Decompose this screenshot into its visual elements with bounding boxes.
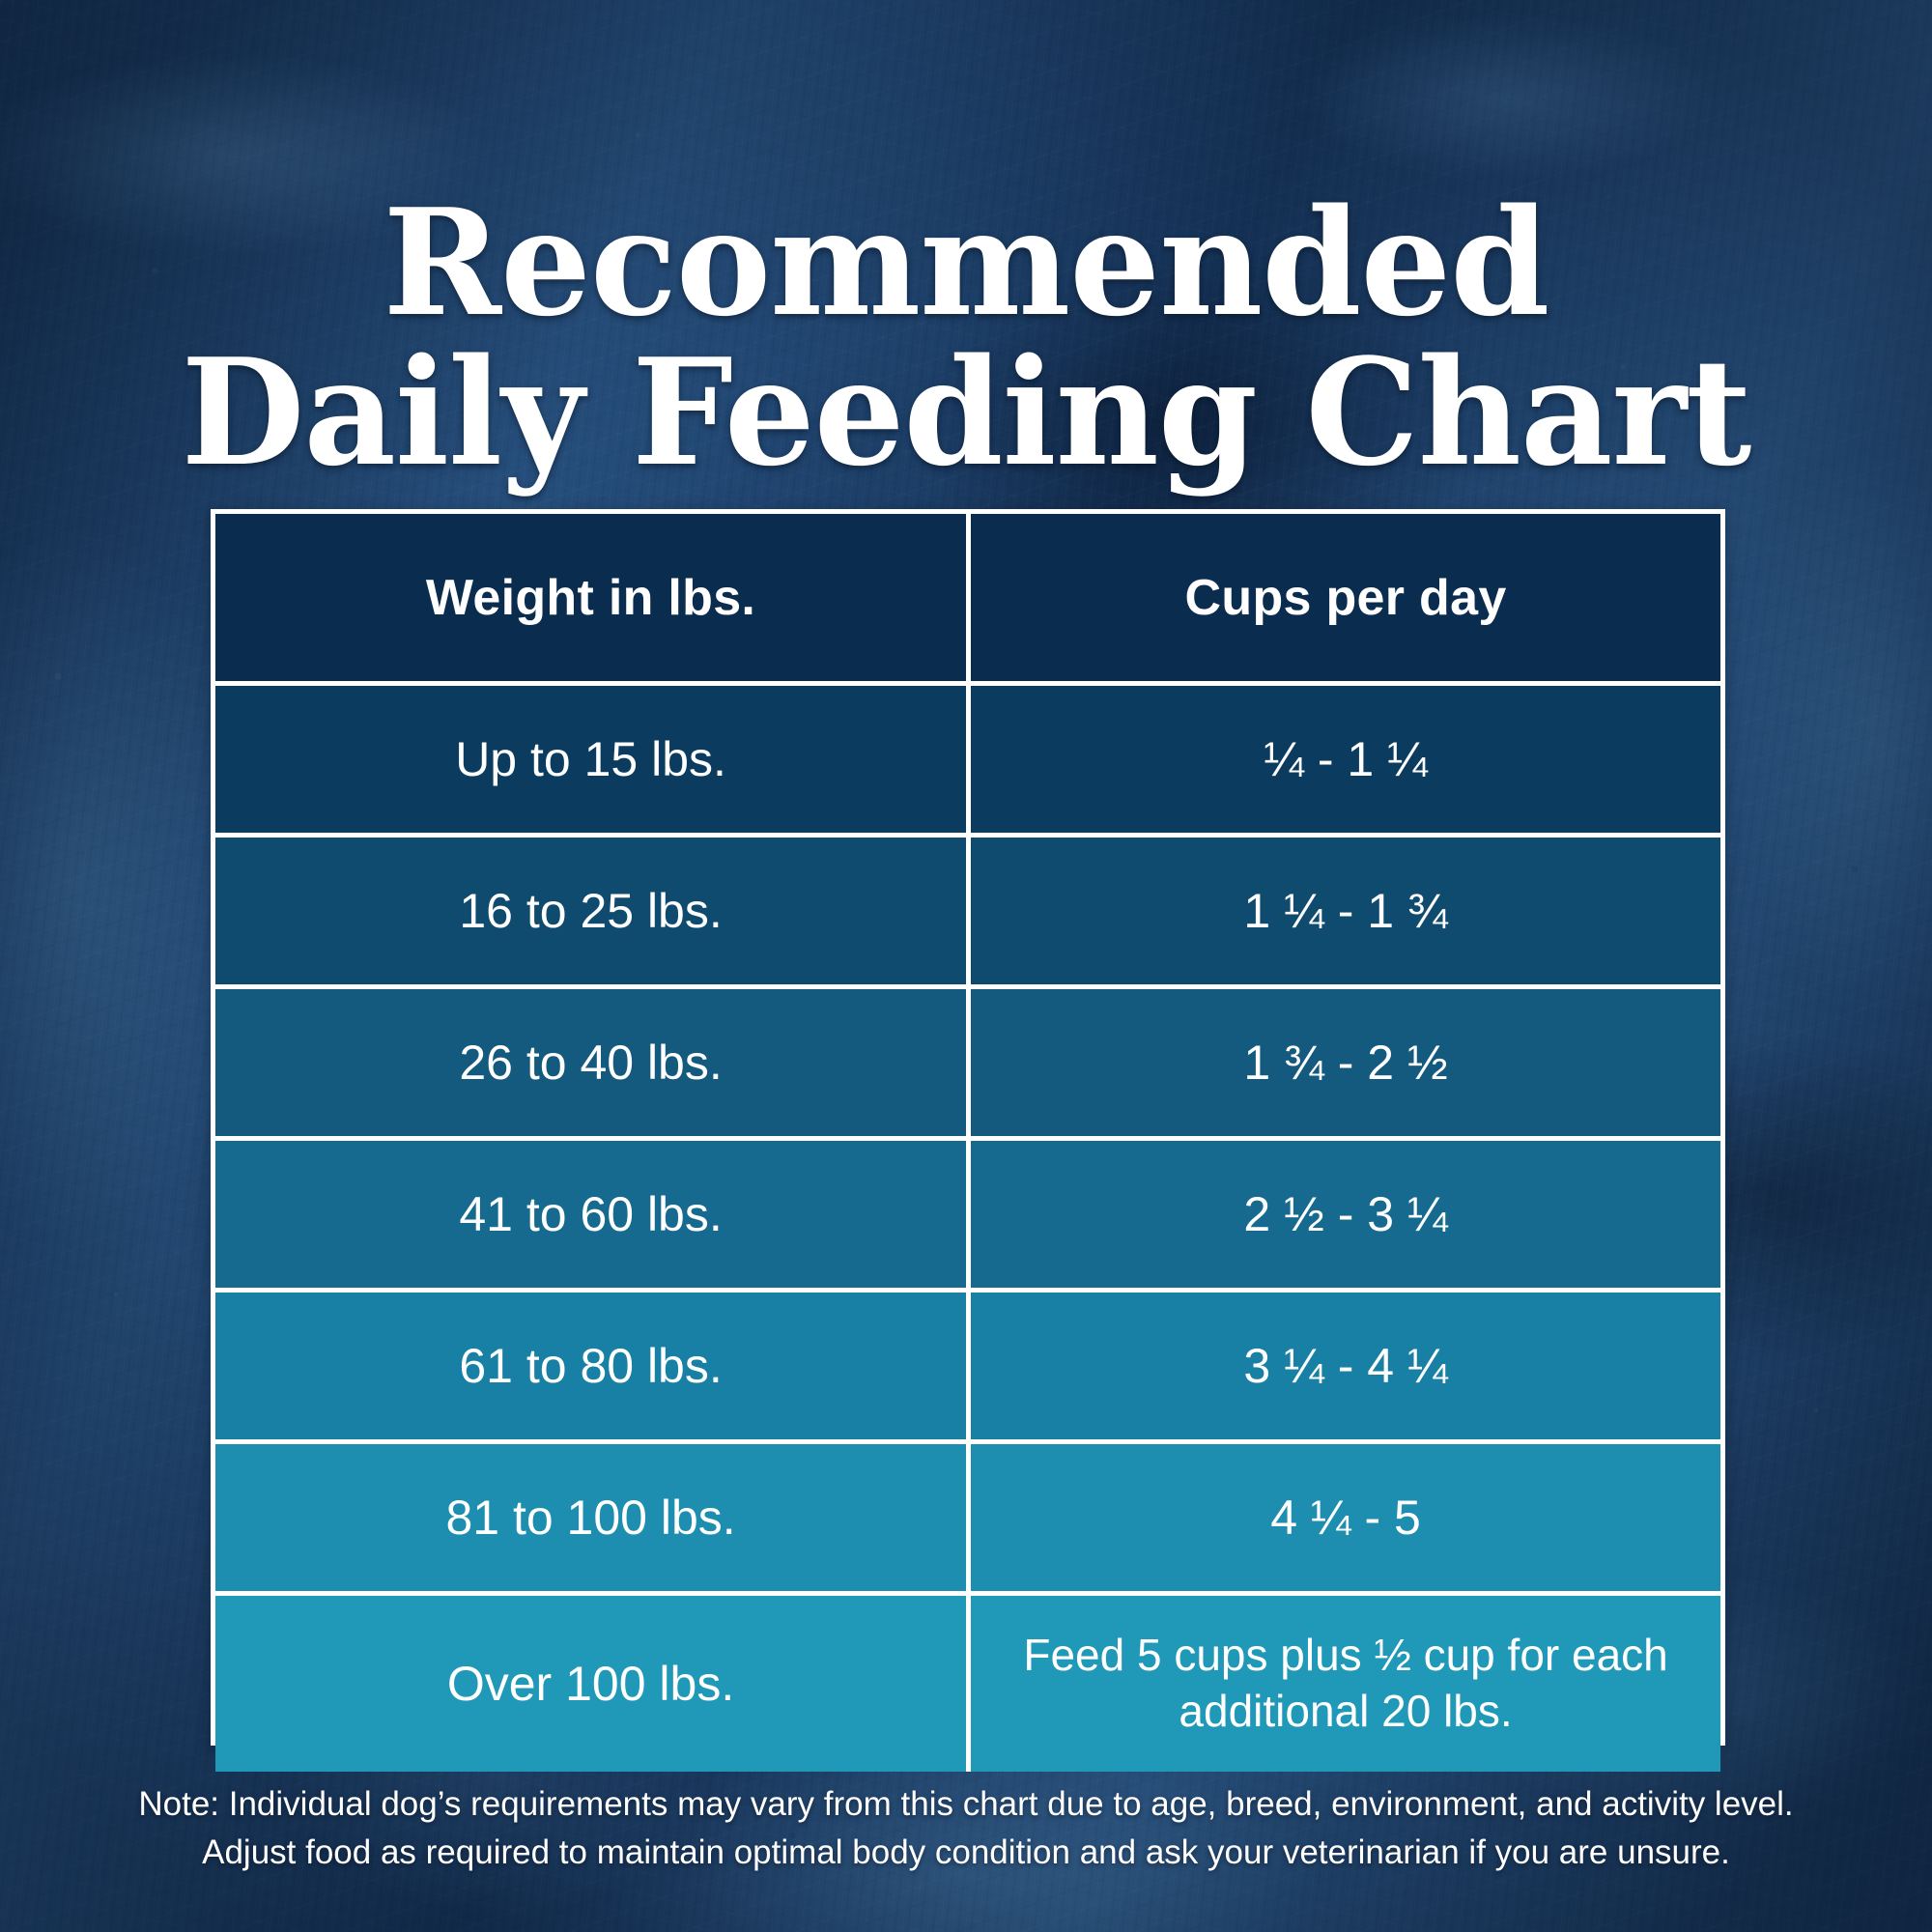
cell-weight: 26 to 40 lbs. xyxy=(215,989,971,1136)
feeding-table: Weight in lbs. Cups per day Up to 15 lbs… xyxy=(211,509,1725,1746)
cell-weight: Over 100 lbs. xyxy=(215,1596,971,1772)
table-row: 26 to 40 lbs. 1 ¾ - 2 ½ xyxy=(215,989,1720,1141)
page-title: Recommended Daily Feeding Chart xyxy=(29,187,1903,487)
cell-weight: 16 to 25 lbs. xyxy=(215,838,971,984)
cell-cups: ¼ - 1 ¼ xyxy=(971,686,1720,833)
footnote-line-1: Note: Individual dog’s requirements may … xyxy=(106,1780,1826,1829)
content-layer: Recommended Daily Feeding Chart Weight i… xyxy=(0,0,1932,1932)
table-header-row: Weight in lbs. Cups per day xyxy=(215,514,1720,686)
cell-cups: 1 ¾ - 2 ½ xyxy=(971,989,1720,1136)
cell-weight: 81 to 100 lbs. xyxy=(215,1444,971,1591)
cell-weight: Up to 15 lbs. xyxy=(215,686,971,833)
table-row: 16 to 25 lbs. 1 ¼ - 1 ¾ xyxy=(215,838,1720,989)
table-row: 61 to 80 lbs. 3 ¼ - 4 ¼ xyxy=(215,1293,1720,1444)
feeding-chart-page: Recommended Daily Feeding Chart Weight i… xyxy=(0,0,1932,1932)
header-cell-cups: Cups per day xyxy=(971,514,1720,681)
cell-cups: 1 ¼ - 1 ¾ xyxy=(971,838,1720,984)
table-row: 41 to 60 lbs. 2 ½ - 3 ¼ xyxy=(215,1141,1720,1293)
header-cell-weight: Weight in lbs. xyxy=(215,514,971,681)
cell-weight: 41 to 60 lbs. xyxy=(215,1141,971,1288)
cell-weight: 61 to 80 lbs. xyxy=(215,1293,971,1439)
footnote: Note: Individual dog’s requirements may … xyxy=(106,1780,1826,1876)
table-row: Over 100 lbs. Feed 5 cups plus ½ cup for… xyxy=(215,1596,1720,1772)
cell-cups: 2 ½ - 3 ¼ xyxy=(971,1141,1720,1288)
cell-cups: Feed 5 cups plus ½ cup for each addition… xyxy=(971,1596,1720,1772)
table-row: Up to 15 lbs. ¼ - 1 ¼ xyxy=(215,686,1720,838)
table-row: 81 to 100 lbs. 4 ¼ - 5 xyxy=(215,1444,1720,1596)
footnote-line-2: Adjust food as required to maintain opti… xyxy=(106,1829,1826,1877)
page-title-line-1: Recommended xyxy=(29,187,1903,337)
page-title-line-2: Daily Feeding Chart xyxy=(29,337,1903,487)
cell-cups: 3 ¼ - 4 ¼ xyxy=(971,1293,1720,1439)
cell-cups: 4 ¼ - 5 xyxy=(971,1444,1720,1591)
